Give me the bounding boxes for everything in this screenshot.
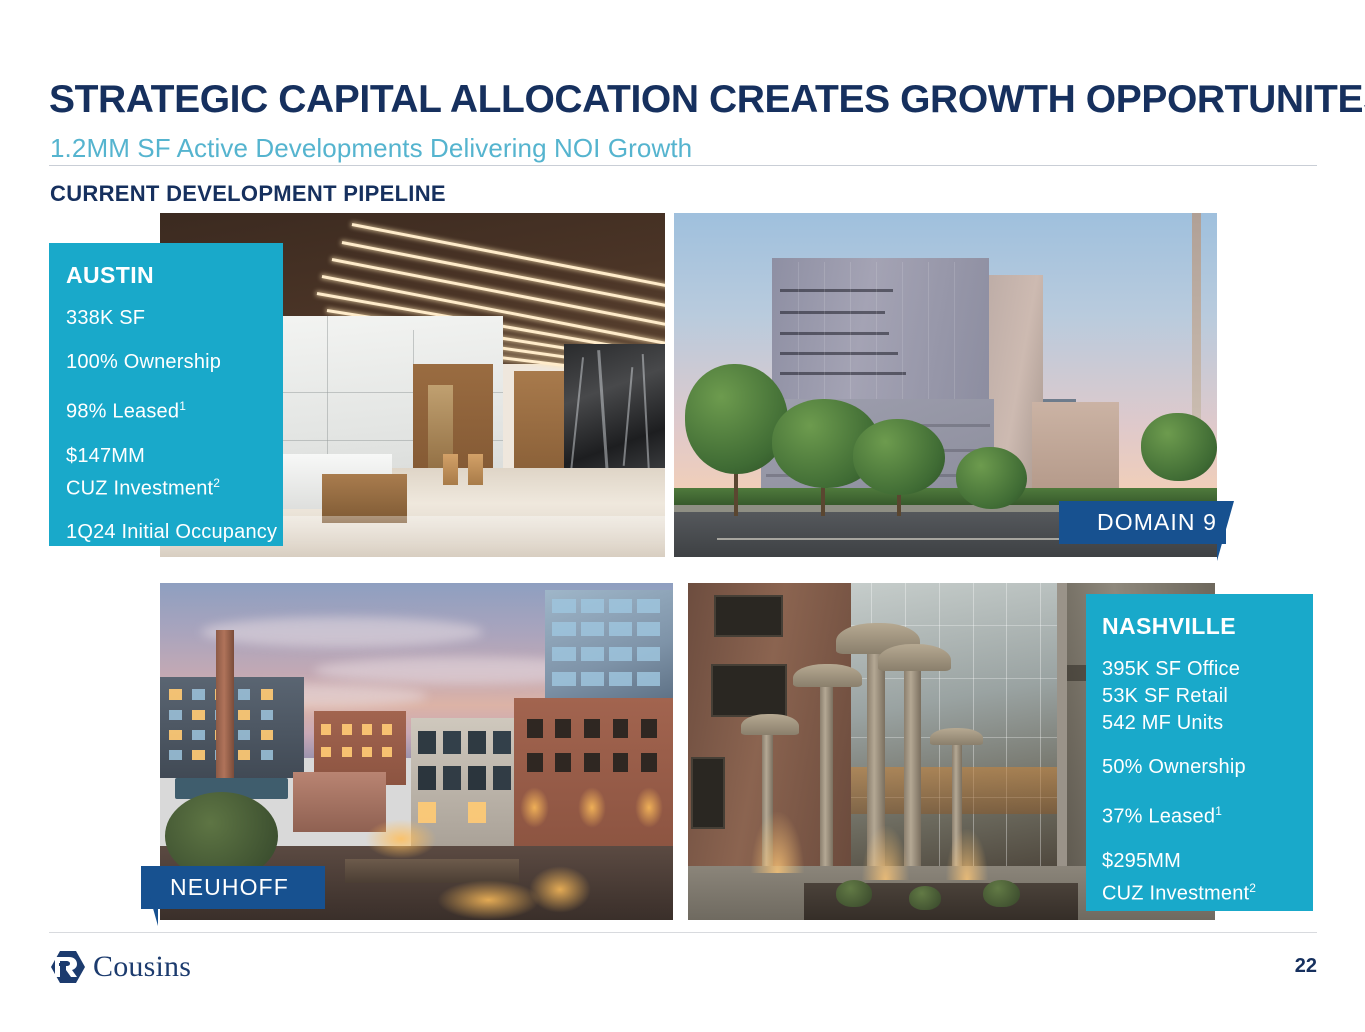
nashville-metric-investment-label: CUZ Investment2 xyxy=(1102,875,1313,908)
wood-wall-panel-right xyxy=(514,371,570,474)
footer-divider xyxy=(49,932,1317,933)
column-capital xyxy=(741,714,799,734)
nashville-metric-leased: 37% Leased1 xyxy=(1102,798,1313,831)
cousins-hexagon-logo-icon xyxy=(50,950,86,984)
light-pole xyxy=(1192,213,1201,426)
company-logo: Cousins xyxy=(50,950,191,984)
header-divider xyxy=(49,165,1317,166)
column-capital xyxy=(930,728,983,745)
historic-brick-warehouse xyxy=(514,698,673,853)
nashville-leased-text: 37% Leased xyxy=(1102,806,1215,828)
austin-metric-ownership: 100% Ownership xyxy=(66,349,283,376)
page-number: 22 xyxy=(1295,955,1317,978)
column-capital xyxy=(793,664,862,688)
card-city-austin: AUSTIN xyxy=(66,262,283,288)
caption-label-domain-9: DOMAIN 9 xyxy=(1097,509,1217,536)
austin-leased-text: 98% Leased xyxy=(66,401,179,423)
tree xyxy=(956,447,1027,509)
nashville-leased-footnote: 1 xyxy=(1215,804,1222,818)
modern-glass-tower xyxy=(545,590,673,705)
section-label: CURRENT DEVELOPMENT PIPELINE xyxy=(50,181,446,207)
nashville-metric-office: 395K SF Office xyxy=(1102,656,1313,683)
tree xyxy=(853,419,945,495)
nashville-metric-retail: 53K SF Retail xyxy=(1102,683,1313,710)
concrete-column xyxy=(820,677,834,886)
nashville-investment-text: CUZ Investment xyxy=(1102,882,1249,904)
austin-metric-investment-label: CUZ Investment2 xyxy=(66,470,283,503)
nashville-investment-footnote: 2 xyxy=(1249,881,1256,895)
austin-metric-occupancy: 1Q24 Initial Occupancy xyxy=(66,519,283,546)
austin-metric-leased: 98% Leased1 xyxy=(66,393,283,426)
column-capital xyxy=(878,644,952,671)
company-name: Cousins xyxy=(93,952,191,982)
austin-leased-footnote: 1 xyxy=(179,399,186,413)
nashville-metric-mf-units: 542 MF Units xyxy=(1102,710,1313,737)
caption-banner-domain-9: DOMAIN 9 xyxy=(1059,501,1226,544)
card-city-nashville: NASHVILLE xyxy=(1102,613,1313,639)
slide-root: STRATEGIC CAPITAL ALLOCATION CREATES GRO… xyxy=(0,0,1365,1032)
page-subtitle: 1.2MM SF Active Developments Delivering … xyxy=(50,133,692,163)
nashville-metric-ownership: 50% Ownership xyxy=(1102,754,1313,781)
austin-investment-footnote: 2 xyxy=(213,476,220,490)
caption-banner-neuhoff: NEUHOFF xyxy=(141,866,325,909)
caption-label-neuhoff: NEUHOFF xyxy=(170,874,289,901)
caption-banner-domain-9-notch xyxy=(1217,501,1234,561)
brick-smokestack xyxy=(216,630,233,778)
page-title: STRATEGIC CAPITAL ALLOCATION CREATES GRO… xyxy=(49,78,1365,122)
austin-metric-investment-amount: $147MM xyxy=(66,443,283,470)
tree xyxy=(1141,413,1217,482)
austin-metric-sf: 338K SF xyxy=(66,305,283,332)
info-card-austin: AUSTIN 338K SF 100% Ownership 98% Leased… xyxy=(49,243,283,546)
tree xyxy=(685,364,788,474)
info-card-nashville: NASHVILLE 395K SF Office 53K SF Retail 5… xyxy=(1086,594,1313,911)
nashville-metric-investment-amount: $295MM xyxy=(1102,848,1313,875)
austin-investment-text: CUZ Investment xyxy=(66,477,213,499)
